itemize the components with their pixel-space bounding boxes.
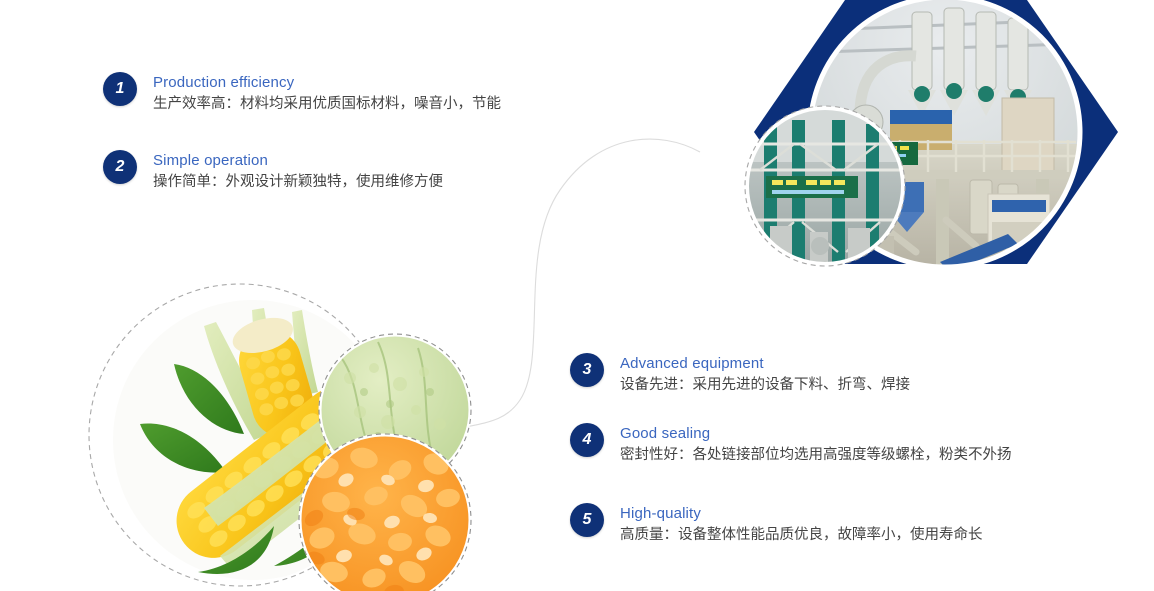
feature-item-2[interactable]: 2 Simple operation 操作简单：外观设计新颖独特，使用维修方便 [103,150,443,193]
flour-mill-machinery-photo [810,0,1080,272]
feature-description: 设备先进：采用先进的设备下料、折弯、焊接 [620,375,910,396]
feature-item-5[interactable]: 5 High-quality 高质量：设备整体性能品质优良，故障率小，使用寿命长 [570,503,983,546]
feature-number-badge: 4 [570,423,604,457]
feature-text: High-quality 高质量：设备整体性能品质优良，故障率小，使用寿命长 [620,503,983,546]
infographic-canvas: 1 Production efficiency 生产效率高：材料均采用优质国标材… [0,0,1154,591]
feature-title: Production efficiency [153,73,501,92]
feature-description: 操作简单：外观设计新颖独特，使用维修方便 [153,172,443,193]
feature-text: Production efficiency 生产效率高：材料均采用优质国标材料，… [153,72,501,115]
feature-text: Advanced equipment 设备先进：采用先进的设备下料、折弯、焊接 [620,353,910,396]
machinery-photo-cluster [740,0,1154,284]
feature-item-1[interactable]: 1 Production efficiency 生产效率高：材料均采用优质国标材… [103,72,501,115]
feature-text: Good sealing 密封性好：各处链接部位均选用高强度等级螺栓，粉类不外扬 [620,423,1012,466]
feature-number-badge: 5 [570,503,604,537]
orange-corn-kernels-photo [300,435,470,591]
feature-item-4[interactable]: 4 Good sealing 密封性好：各处链接部位均选用高强度等级螺栓，粉类不… [570,423,1012,466]
corn-photo-cluster [78,272,498,591]
feature-description: 密封性好：各处链接部位均选用高强度等级螺栓，粉类不外扬 [620,445,1012,466]
feature-number-badge: 3 [570,353,604,387]
feature-description: 高质量：设备整体性能品质优良，故障率小，使用寿命长 [620,525,983,546]
feature-title: Good sealing [620,424,1012,443]
hexagon-badge [754,0,1118,264]
green-corn-paste-photo [320,335,470,485]
corn-cob-photo [90,285,396,585]
feature-title: Simple operation [153,151,443,170]
feature-description: 生产效率高：材料均采用优质国标材料，噪音小，节能 [153,94,501,115]
teal-mill-machinery-photo [747,108,903,264]
feature-item-3[interactable]: 3 Advanced equipment 设备先进：采用先进的设备下料、折弯、焊… [570,353,910,396]
feature-title: High-quality [620,504,983,523]
feature-number-badge: 2 [103,150,137,184]
feature-title: Advanced equipment [620,354,910,373]
feature-number-badge: 1 [103,72,137,106]
feature-text: Simple operation 操作简单：外观设计新颖独特，使用维修方便 [153,150,443,193]
